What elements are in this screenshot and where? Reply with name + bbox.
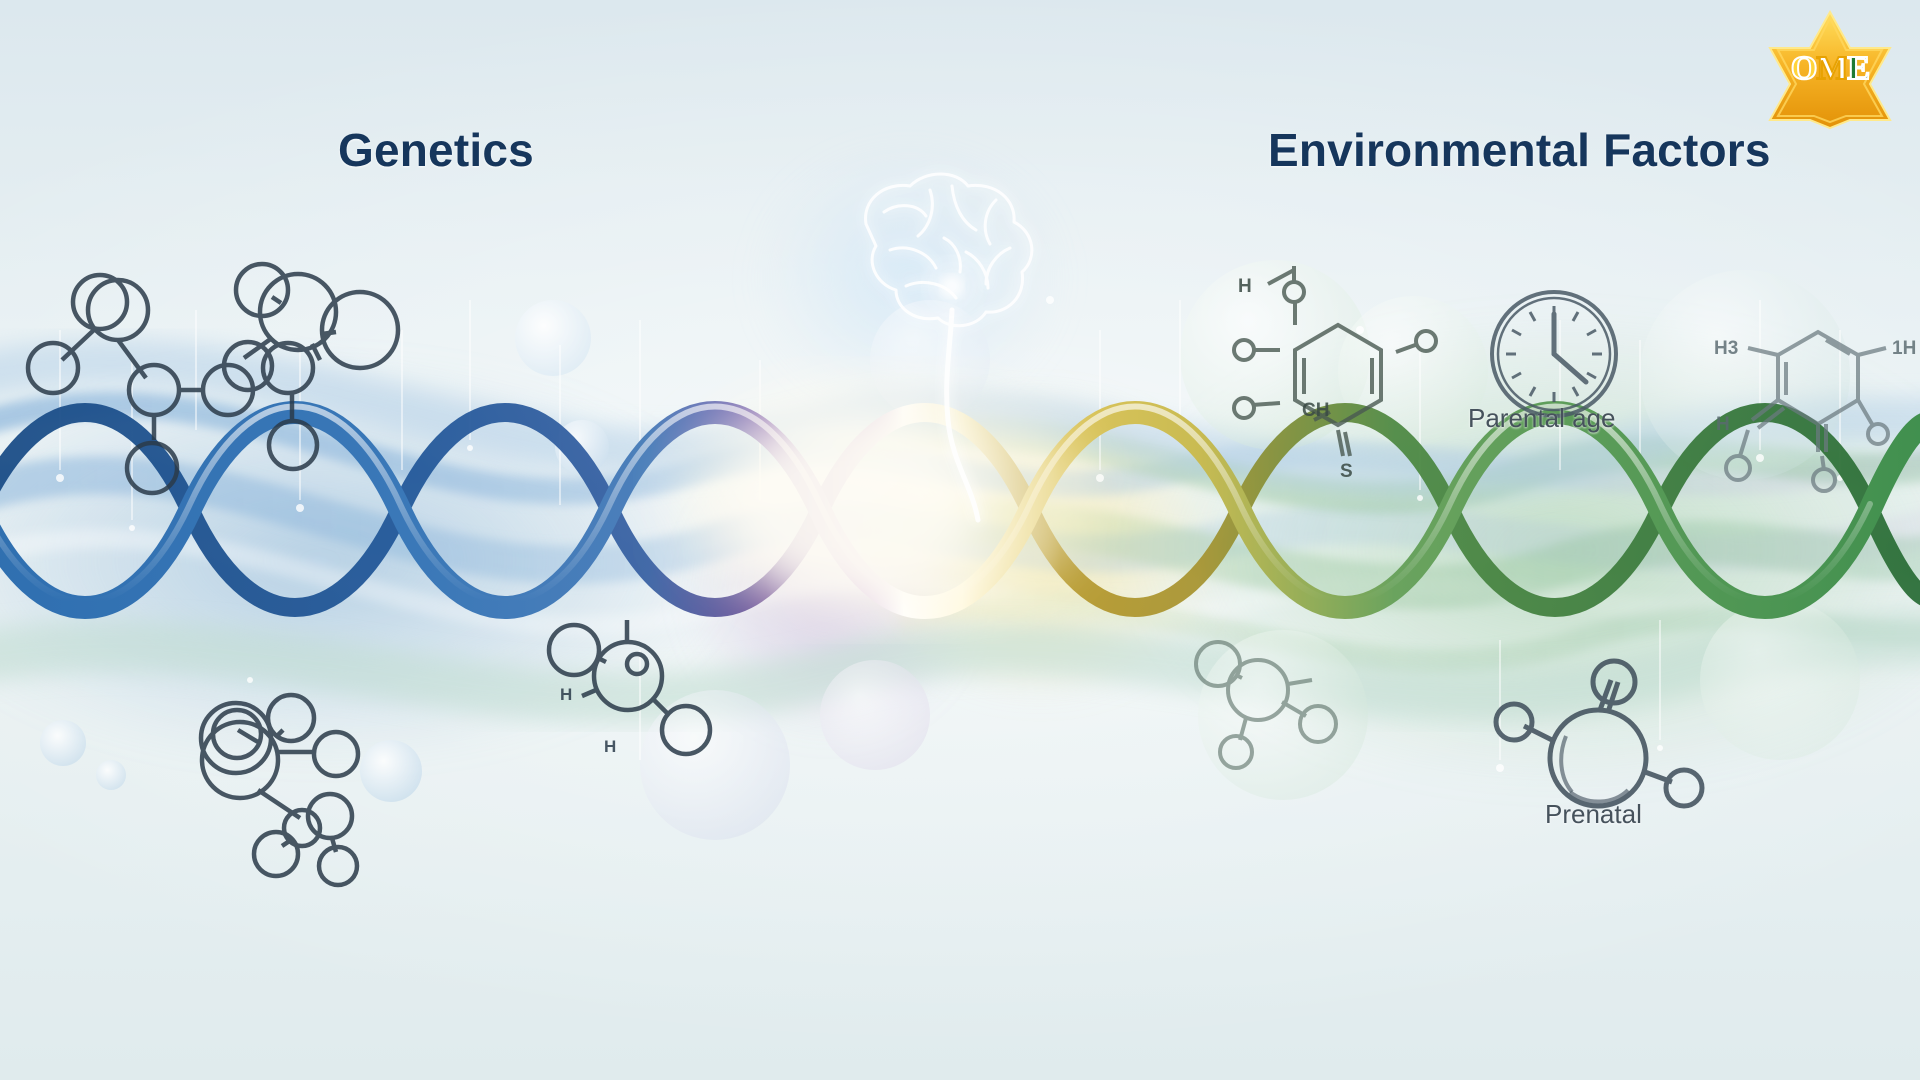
bokeh-bubble	[1338, 296, 1488, 446]
bokeh-bubble	[555, 420, 609, 474]
label-prenatal: Prenatal	[1545, 799, 1642, 830]
chem-label-s: S	[1340, 461, 1353, 482]
bokeh-bubble	[1640, 270, 1850, 480]
top-glow	[700, 80, 1120, 440]
chem-label-h: H	[604, 737, 616, 756]
page-title-genetics: Genetics	[338, 123, 534, 177]
molecule-icon	[549, 620, 710, 754]
molecule-icon	[1196, 642, 1336, 768]
blue-wash	[0, 300, 920, 820]
bokeh-bubble	[1700, 600, 1860, 760]
bokeh-bubble	[870, 300, 990, 420]
logo-letter-m: M	[1816, 50, 1847, 87]
logo-letters: OME	[1766, 50, 1894, 88]
chem-label-h: H	[560, 685, 572, 704]
bokeh-bubble	[1180, 260, 1370, 450]
bokeh-bubble	[820, 660, 930, 770]
bokeh-bubble	[640, 690, 790, 840]
molecule-icon	[224, 264, 398, 469]
bokeh-bubble	[515, 300, 591, 376]
chem-label-h3: H3	[1714, 338, 1738, 359]
bokeh-bubble	[40, 720, 86, 766]
green-wash	[980, 250, 1920, 850]
chem-label-h: H	[1716, 414, 1730, 435]
infographic-canvas: H H H CH S	[0, 0, 1920, 1080]
benzene-structure-icon	[1234, 266, 1436, 456]
chem-label-h: H	[1238, 276, 1252, 297]
gold-wash	[780, 330, 1300, 760]
benzene-structure-icon	[1726, 332, 1888, 491]
molecule-icon	[201, 695, 358, 885]
ome-logo[interactable]: OME	[1766, 6, 1894, 134]
chem-label-ch: CH	[1302, 400, 1329, 421]
bokeh-bubble	[1198, 630, 1368, 800]
violet-wash	[620, 380, 1040, 800]
bokeh-bubble	[360, 740, 422, 802]
bokeh-bubble	[96, 760, 126, 790]
page-title-environmental: Environmental Factors	[1268, 123, 1771, 177]
molecule-icon	[28, 275, 253, 493]
label-parental-age: Parental age	[1468, 403, 1615, 434]
molecule-icon	[1496, 661, 1702, 806]
chem-label-1h: 1H	[1892, 338, 1916, 359]
logo-letter-e: E	[1847, 50, 1869, 87]
logo-letter-o: O	[1791, 50, 1816, 87]
